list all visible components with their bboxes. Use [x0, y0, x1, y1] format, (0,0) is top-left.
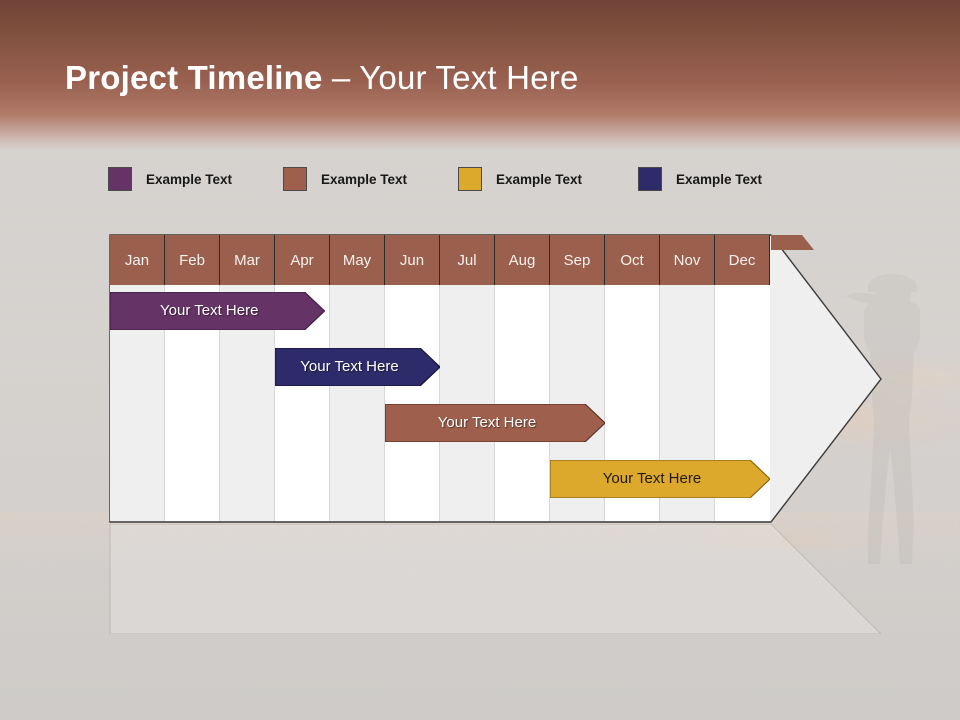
legend-swatch-icon: [458, 167, 482, 191]
legend-item-label: Example Text: [146, 172, 232, 187]
page-title-light: – Your Text Here: [323, 59, 579, 96]
page-title: Project Timeline – Your Text Here: [65, 59, 579, 97]
page-title-strong: Project Timeline: [65, 59, 323, 96]
task-bar-shape-icon: [550, 460, 770, 498]
task-bars: Your Text HereYour Text HereYour Text He…: [108, 234, 883, 524]
legend: Example TextExample TextExample TextExam…: [108, 164, 828, 196]
task-bar-shape-icon: [275, 348, 440, 386]
task-bar-1[interactable]: Your Text Here: [110, 292, 325, 330]
slide-canvas: Project Timeline – Your Text Here Exampl…: [0, 0, 960, 720]
legend-swatch-icon: [108, 167, 132, 191]
legend-item-label: Example Text: [496, 172, 582, 187]
legend-swatch-icon: [638, 167, 662, 191]
chart-reflection: [108, 524, 883, 634]
task-bar-4[interactable]: Your Text Here: [550, 460, 770, 498]
legend-item-4[interactable]: Example Text: [638, 164, 762, 194]
legend-item-3[interactable]: Example Text: [458, 164, 582, 194]
task-bar-3[interactable]: Your Text Here: [385, 404, 605, 442]
timeline-chart: JanFebMarAprMayJunJulAugSepOctNovDec You…: [108, 234, 883, 524]
legend-item-label: Example Text: [321, 172, 407, 187]
legend-swatch-icon: [283, 167, 307, 191]
legend-item-2[interactable]: Example Text: [283, 164, 407, 194]
task-bar-shape-icon: [385, 404, 605, 442]
task-bar-2[interactable]: Your Text Here: [275, 348, 440, 386]
legend-item-label: Example Text: [676, 172, 762, 187]
legend-item-1[interactable]: Example Text: [108, 164, 232, 194]
task-bar-shape-icon: [110, 292, 325, 330]
